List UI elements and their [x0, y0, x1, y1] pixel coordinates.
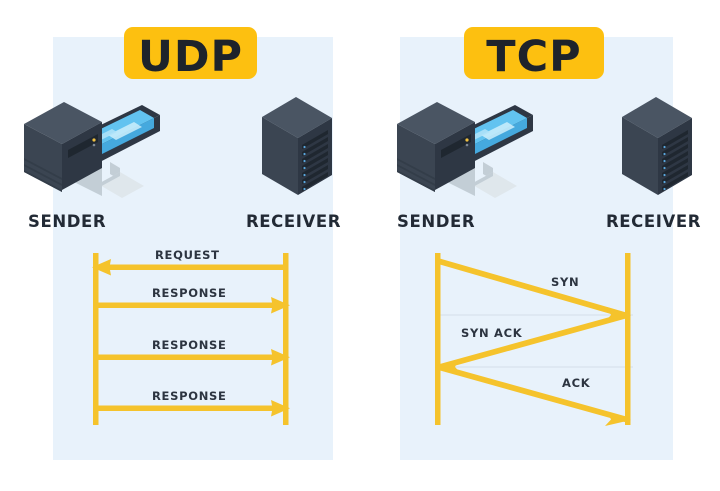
udp-message-label-4: RESPONSE	[152, 389, 227, 403]
tcp-receiver-lifeline	[625, 253, 631, 425]
tcp-message-arrow-ack	[437, 364, 632, 426]
desktop-computer-icon	[16, 88, 164, 206]
tcp-message-arrow-synack	[435, 312, 630, 374]
udp-sequence-diagram: REQUEST RESPONSE RESPONSE RESPONSE	[80, 245, 310, 425]
desktop-computer-icon	[389, 88, 537, 206]
server-rack-icon	[618, 95, 698, 207]
tcp-sequence-diagram: SYN SYN ACK ACK	[425, 245, 645, 425]
tcp-sender-label: SENDER	[397, 212, 475, 231]
udp-message-label-1: REQUEST	[155, 248, 220, 262]
tcp-receiver-label: RECEIVER	[606, 212, 701, 231]
diagram-canvas: UDP	[0, 0, 720, 491]
tcp-message-label-synack: SYN ACK	[461, 326, 522, 340]
udp-receiver-lifeline	[283, 253, 289, 425]
udp-sender-label: SENDER	[28, 212, 106, 231]
udp-title-badge: UDP	[124, 27, 257, 79]
udp-message-label-3: RESPONSE	[152, 338, 227, 352]
tcp-title-badge: TCP	[464, 27, 604, 79]
tcp-message-label-syn: SYN	[551, 275, 579, 289]
server-rack-icon	[258, 95, 338, 207]
tcp-message-label-ack: ACK	[562, 376, 590, 390]
udp-sender-lifeline	[93, 253, 99, 425]
tcp-sender-lifeline	[435, 253, 441, 425]
udp-receiver-label: RECEIVER	[246, 212, 341, 231]
udp-message-label-2: RESPONSE	[152, 286, 227, 300]
tcp-message-arrow-syn	[437, 258, 632, 322]
